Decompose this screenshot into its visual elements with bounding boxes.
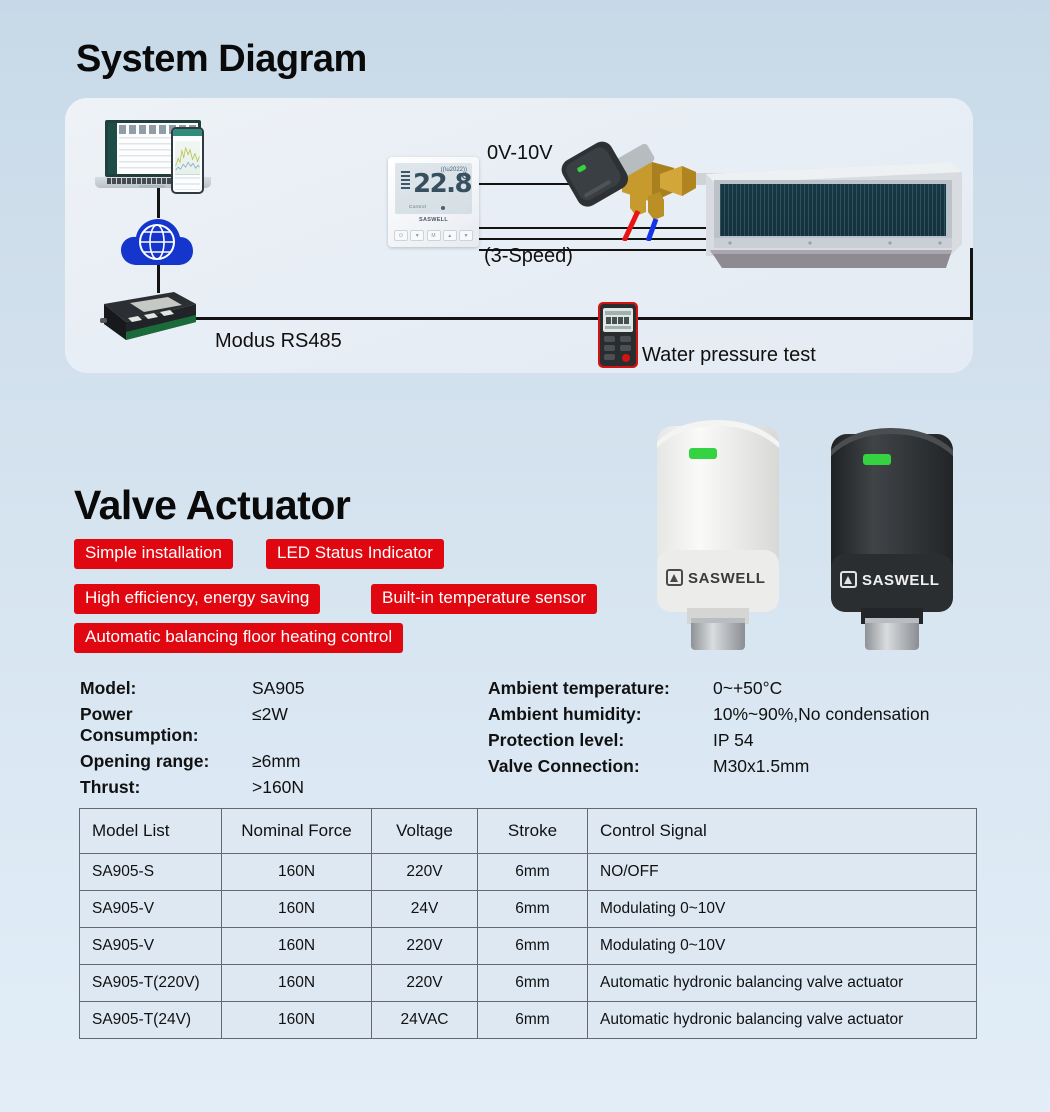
feature-badge-led-status-indicator: LED Status Indicator xyxy=(266,539,444,569)
svg-text:SASWELL: SASWELL xyxy=(862,572,940,589)
svg-text:SASWELL: SASWELL xyxy=(688,570,766,587)
spec-key: Protection level: xyxy=(488,730,713,751)
spec-ambient-humidity: Ambient humidity: 10%~90%,No condensatio… xyxy=(488,704,929,725)
thermostat-buttons: ⏻ ▼ M ▲ ▼ xyxy=(394,230,473,241)
spec-value: SA905 xyxy=(252,678,305,699)
label-3-speed: (3-Speed) xyxy=(484,245,573,268)
col-header-model-list: Model List xyxy=(80,809,222,854)
cell-voltage: 220V xyxy=(372,965,478,1002)
feature-badge-temperature-sensor: Built-in temperature sensor xyxy=(371,584,597,614)
cell-force: 160N xyxy=(222,965,372,1002)
thermostat[interactable]: ((\u2022)) 22.8 °C Control SASWELL ⏻ ▼ M… xyxy=(388,157,479,247)
product-photos: SASWELL SASWELL xyxy=(645,412,985,662)
spec-model: Model: SA905 xyxy=(80,678,305,699)
table-row: SA905-S 160N 220V 6mm NO/OFF xyxy=(80,854,977,891)
cell-voltage: 220V xyxy=(372,928,478,965)
page-title-system-diagram: System Diagram xyxy=(76,38,367,81)
cell-model: SA905-S xyxy=(80,854,222,891)
fan-coil-unit xyxy=(700,158,962,270)
spec-thrust: Thrust: >160N xyxy=(80,777,305,798)
spec-value: ≤2W xyxy=(252,704,288,746)
label-0v-10v: 0V-10V xyxy=(487,142,553,165)
cell-control-signal: Modulating 0~10V xyxy=(588,928,977,965)
cell-stroke: 6mm xyxy=(478,965,588,1002)
smartphone-app xyxy=(171,127,204,194)
laptop-dashboard xyxy=(95,120,228,200)
valve-actuator-black: SASWELL xyxy=(831,428,953,650)
cell-model: SA905-T(220V) xyxy=(80,965,222,1002)
cell-model: SA905-T(24V) xyxy=(80,1002,222,1039)
spec-power-consumption: Power Consumption: ≤2W xyxy=(80,704,305,746)
water-pressure-tester xyxy=(596,300,640,370)
spec-value: M30x1.5mm xyxy=(713,756,809,777)
label-water-pressure-test: Water pressure test xyxy=(642,344,816,367)
wire-thermostat-drop xyxy=(970,248,973,320)
valve-actuator-white: SASWELL xyxy=(657,420,779,650)
page-title-valve-actuator: Valve Actuator xyxy=(74,482,350,529)
cell-control-signal: Automatic hydronic balancing valve actua… xyxy=(588,1002,977,1039)
col-header-voltage: Voltage xyxy=(372,809,478,854)
cell-force: 160N xyxy=(222,1002,372,1039)
spec-value: 10%~90%,No condensation xyxy=(713,704,929,725)
specs-left-column: Model: SA905 Power Consumption: ≤2W Open… xyxy=(80,678,305,803)
cell-force: 160N xyxy=(222,891,372,928)
gateway-controller xyxy=(98,288,198,344)
cloud-icon xyxy=(120,213,194,271)
table-row: SA905-V 160N 24V 6mm Modulating 0~10V xyxy=(80,891,977,928)
spec-valve-connection: Valve Connection: M30x1.5mm xyxy=(488,756,929,777)
spec-ambient-temperature: Ambient temperature: 0~+50°C xyxy=(488,678,929,699)
spec-value: >160N xyxy=(252,777,304,798)
cell-control-signal: Automatic hydronic balancing valve actua… xyxy=(588,965,977,1002)
table-row: SA905-V 160N 220V 6mm Modulating 0~10V xyxy=(80,928,977,965)
cell-model: SA905-V xyxy=(80,928,222,965)
fan-button[interactable]: ▼ xyxy=(410,230,424,241)
spec-key: Model: xyxy=(80,678,252,699)
cell-force: 160N xyxy=(222,928,372,965)
up-button[interactable]: ▲ xyxy=(443,230,457,241)
col-header-stroke: Stroke xyxy=(478,809,588,854)
cell-stroke: 6mm xyxy=(478,891,588,928)
col-header-control-signal: Control Signal xyxy=(588,809,977,854)
cell-stroke: 6mm xyxy=(478,854,588,891)
cell-control-signal: NO/OFF xyxy=(588,854,977,891)
feature-badge-high-efficiency: High efficiency, energy saving xyxy=(74,584,320,614)
spec-key: Opening range: xyxy=(80,751,252,772)
down-button[interactable]: ▼ xyxy=(459,230,473,241)
wire-modbus-bus xyxy=(183,317,973,320)
cell-voltage: 220V xyxy=(372,854,478,891)
thermostat-display: ((\u2022)) 22.8 °C Control xyxy=(395,163,472,214)
spec-key: Valve Connection: xyxy=(488,756,713,777)
table-row: SA905-T(220V) 160N 220V 6mm Automatic hy… xyxy=(80,965,977,1002)
spec-value: IP 54 xyxy=(713,730,754,751)
feature-badge-simple-installation: Simple installation xyxy=(74,539,233,569)
mode-button[interactable]: M xyxy=(427,230,441,241)
spec-value: ≥6mm xyxy=(252,751,301,772)
model-list-table: Model List Nominal Force Voltage Stroke … xyxy=(79,808,977,1039)
spec-value: 0~+50°C xyxy=(713,678,782,699)
specs-right-column: Ambient temperature: 0~+50°C Ambient hum… xyxy=(488,678,929,782)
cell-voltage: 24V xyxy=(372,891,478,928)
label-modbus-rs485: Modus RS485 xyxy=(215,330,342,353)
spec-key: Ambient temperature: xyxy=(488,678,713,699)
cell-control-signal: Modulating 0~10V xyxy=(588,891,977,928)
temperature-unit: °C xyxy=(458,171,468,181)
cell-voltage: 24VAC xyxy=(372,1002,478,1039)
spec-key: Thrust: xyxy=(80,777,252,798)
power-button[interactable]: ⏻ xyxy=(394,230,408,241)
table-row: SA905-T(24V) 160N 24VAC 6mm Automatic hy… xyxy=(80,1002,977,1039)
status-label: Control xyxy=(409,204,426,209)
spec-key: Power Consumption: xyxy=(80,704,252,746)
thermostat-brand: SASWELL xyxy=(388,217,479,223)
cell-force: 160N xyxy=(222,854,372,891)
cell-stroke: 6mm xyxy=(478,928,588,965)
spec-protection-level: Protection level: IP 54 xyxy=(488,730,929,751)
cell-stroke: 6mm xyxy=(478,1002,588,1039)
cell-model: SA905-V xyxy=(80,891,222,928)
table-header-row: Model List Nominal Force Voltage Stroke … xyxy=(80,809,977,854)
spec-key: Ambient humidity: xyxy=(488,704,713,725)
fan-speed-icon xyxy=(401,171,410,191)
col-header-nominal-force: Nominal Force xyxy=(222,809,372,854)
spec-opening-range: Opening range: ≥6mm xyxy=(80,751,305,772)
feature-badge-automatic-balancing: Automatic balancing floor heating contro… xyxy=(74,623,403,653)
